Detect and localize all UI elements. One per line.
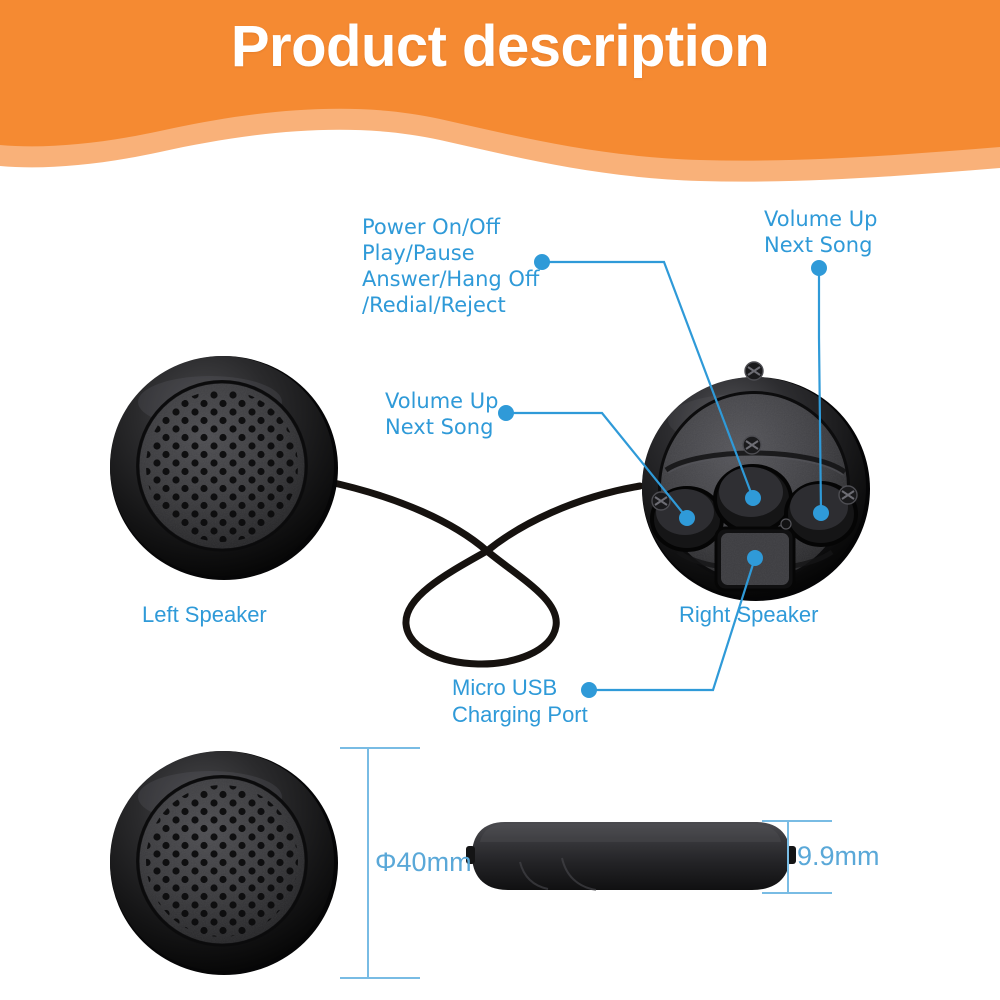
callout-volume-up-next-song-left: Volume Up Next Song [385,388,498,440]
callout-volume-up-next-song-right: Volume Up Next Song [764,206,877,258]
dimension-label-thickness: 9.9mm [797,841,880,871]
product-description-infographic: Product description [0,0,1000,1000]
connecting-cable [325,481,640,664]
callout-micro-usb-charging-port: Micro USB Charging Port [452,674,588,728]
callout-power-multifunction: Power On/Off Play/Pause Answer/Hang Off … [362,214,539,318]
callout-right-speaker: Right Speaker [679,601,818,628]
speaker-side-dimension-graphic [466,822,796,890]
dimension-label-diameter: Φ40mm [375,847,472,877]
speaker-front-dimension-graphic [110,751,338,975]
callout-left-speaker: Left Speaker [142,601,267,628]
left-speaker-graphic [110,356,338,580]
